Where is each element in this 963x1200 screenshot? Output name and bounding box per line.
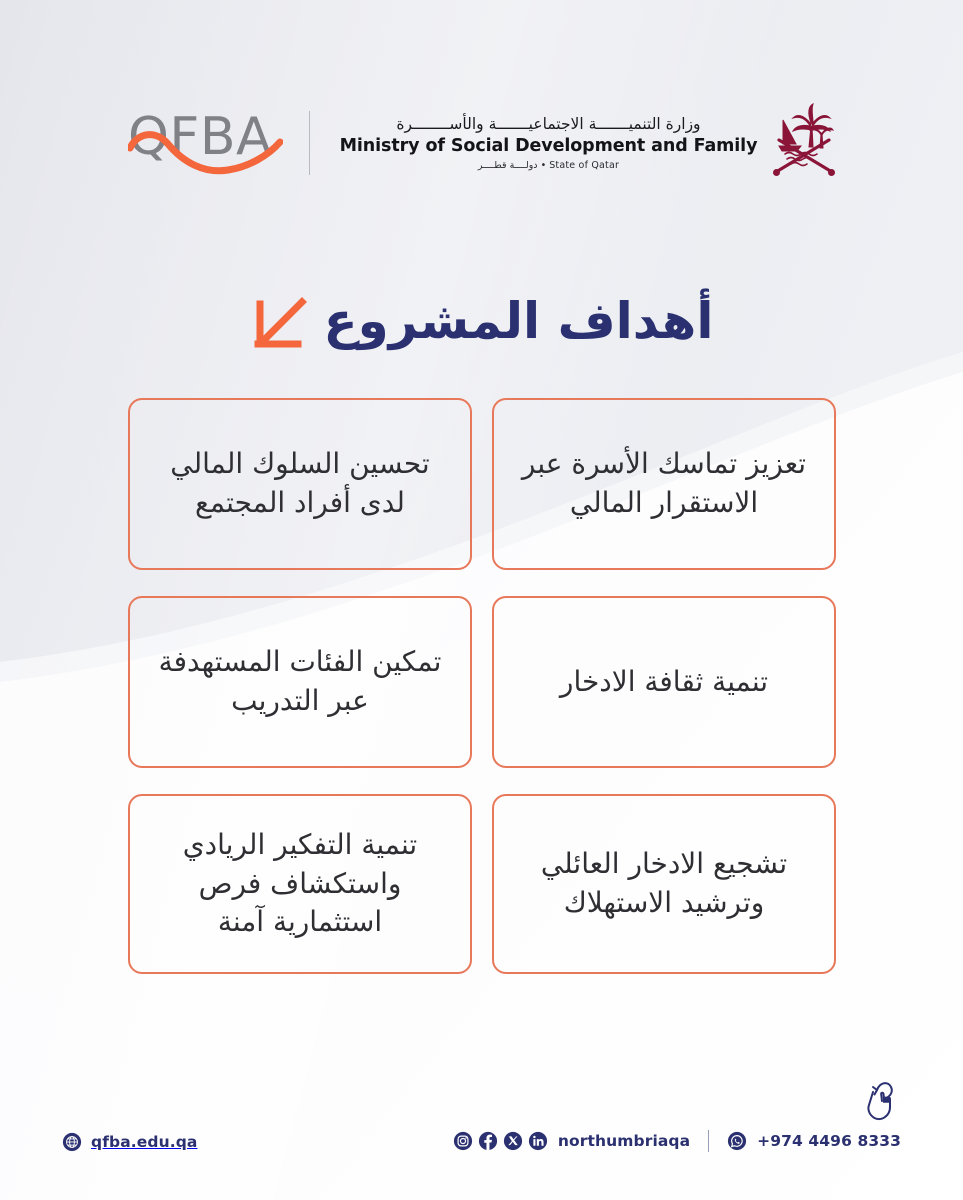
facebook-icon[interactable] [478, 1131, 498, 1151]
whatsapp-icon[interactable] [727, 1131, 747, 1151]
objective-card-text: تمكين الفئات المستهدفة عبر التدريب [154, 643, 446, 720]
header-logo-bar: QFBA وزارة التنميـــــــة الاجتماعيـــــ… [0, 92, 963, 194]
footer-separator [708, 1130, 709, 1152]
objectives-grid: تعزيز تماسك الأسرة عبر الاستقرار المالي … [128, 398, 836, 974]
objective-card-text: تنمية التفكير الريادي واستكشاف فرص استثم… [154, 826, 446, 942]
logo-divider [309, 111, 310, 175]
poster-canvas: QFBA وزارة التنميـــــــة الاجتماعيـــــ… [0, 0, 963, 1200]
page-title-row: أهداف المشروع [0, 282, 963, 360]
objective-card-family-cohesion[interactable]: تعزيز تماسك الأسرة عبر الاستقرار المالي [492, 398, 836, 570]
objective-card-entrepreneurial[interactable]: تنمية التفكير الريادي واستكشاف فرص استثم… [128, 794, 472, 974]
ministry-name-arabic: وزارة التنميـــــــة الاجتماعيـــــــة و… [396, 115, 700, 134]
social-icons-group [453, 1131, 548, 1151]
objective-card-text: تنمية ثقافة الادخار [560, 663, 768, 702]
footer-contact-group: northumbriaqa +974 4496 8333 [453, 1130, 901, 1152]
ministry-lockup: وزارة التنميـــــــة الاجتماعيـــــــة و… [340, 115, 758, 170]
objective-card-text: تشجيع الادخار العائلي وترشيد الاستهلاك [518, 845, 810, 922]
qatar-emblem-icon [773, 102, 835, 184]
footer: qfba.edu.qa [0, 1080, 963, 1200]
objective-card-financial-behavior[interactable]: تحسين السلوك المالي لدى أفراد المجتمع [128, 398, 472, 570]
swipe-hand-icon [855, 1074, 901, 1122]
website-link[interactable]: qfba.edu.qa [62, 1132, 197, 1152]
ministry-state-line: دولــــة قطــــر • State of Qatar [478, 160, 619, 171]
phone-number: +974 4496 8333 [757, 1132, 901, 1150]
linkedin-icon[interactable] [528, 1131, 548, 1151]
arrow-down-left-icon [250, 294, 308, 352]
globe-icon [62, 1132, 82, 1152]
objective-card-empower-groups[interactable]: تمكين الفئات المستهدفة عبر التدريب [128, 596, 472, 768]
social-handle: northumbriaqa [558, 1132, 690, 1150]
objective-card-family-savings[interactable]: تشجيع الادخار العائلي وترشيد الاستهلاك [492, 794, 836, 974]
objective-card-text: تحسين السلوك المالي لدى أفراد المجتمع [154, 445, 446, 522]
ministry-name-english: Ministry of Social Development and Famil… [340, 135, 758, 158]
qfba-logo: QFBA [128, 104, 283, 182]
x-twitter-icon[interactable] [503, 1131, 523, 1151]
instagram-icon[interactable] [453, 1131, 473, 1151]
objective-card-savings-culture[interactable]: تنمية ثقافة الادخار [492, 596, 836, 768]
page-title: أهداف المشروع [324, 296, 714, 346]
website-url: qfba.edu.qa [91, 1133, 197, 1151]
objective-card-text: تعزيز تماسك الأسرة عبر الاستقرار المالي [518, 445, 810, 522]
